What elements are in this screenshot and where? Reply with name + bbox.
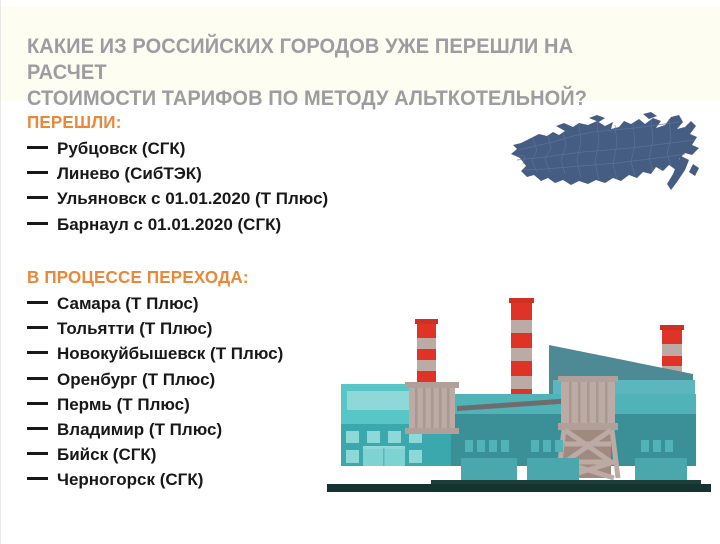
dash-bullet-icon xyxy=(27,452,48,455)
city-label: Оренбург (Т Плюс) xyxy=(57,367,215,392)
list-item: Самара (Т Плюс) xyxy=(27,291,283,316)
list-item: Бийск (СГК) xyxy=(27,442,283,467)
list-item: Линево (СибТЭК) xyxy=(27,161,328,186)
section-heading-transitioned: ПЕРЕШЛИ: xyxy=(27,112,319,133)
page-title: КАКИЕ ИЗ РОССИЙСКИХ ГОРОДОВ УЖЕ ПЕРЕШЛИ … xyxy=(27,33,655,111)
section-transitioned: ПЕРЕШЛИ: Рубцовск (СГК) Линево (СибТЭК) … xyxy=(27,112,328,237)
city-label: Ульяновск с 01.01.2020 (Т Плюс) xyxy=(57,186,328,211)
dash-bullet-icon xyxy=(27,146,48,149)
city-list-in-progress: Самара (Т Плюс) Тольятти (Т Плюс) Новоку… xyxy=(27,291,283,493)
power-plant-icon xyxy=(321,298,720,498)
dash-bullet-icon xyxy=(27,222,48,225)
city-label: Владимир (Т Плюс) xyxy=(57,417,222,442)
section-in-progress: В ПРОЦЕССЕ ПЕРЕХОДА: Самара (Т Плюс) Тол… xyxy=(27,267,283,493)
list-item: Тольятти (Т Плюс) xyxy=(27,316,283,341)
dash-bullet-icon xyxy=(27,196,48,199)
power-plant-illustration xyxy=(321,298,720,498)
city-label: Новокуйбышевск (Т Плюс) xyxy=(57,341,283,366)
infographic-page: КАКИЕ ИЗ РОССИЙСКИХ ГОРОДОВ УЖЕ ПЕРЕШЛИ … xyxy=(0,0,720,544)
list-item: Пермь (Т Плюс) xyxy=(27,392,283,417)
list-item: Черногорск (СГК) xyxy=(27,467,283,492)
dash-bullet-icon xyxy=(27,377,48,380)
list-item: Ульяновск с 01.01.2020 (Т Плюс) xyxy=(27,186,328,211)
list-item: Владимир (Т Плюс) xyxy=(27,417,283,442)
dash-bullet-icon xyxy=(27,301,48,304)
list-item: Оренбург (Т Плюс) xyxy=(27,367,283,392)
dash-bullet-icon xyxy=(27,427,48,430)
russia-map-icon xyxy=(493,112,705,208)
dash-bullet-icon xyxy=(27,477,48,480)
russia-map-illustration xyxy=(493,112,705,208)
city-label: Рубцовск (СГК) xyxy=(57,136,185,161)
dash-bullet-icon xyxy=(27,351,48,354)
dash-bullet-icon xyxy=(27,326,48,329)
city-label: Барнаул с 01.01.2020 (СГК) xyxy=(57,212,281,237)
ground-bar xyxy=(327,484,711,492)
list-item: Барнаул с 01.01.2020 (СГК) xyxy=(27,212,328,237)
city-label: Пермь (Т Плюс) xyxy=(57,392,190,417)
list-item: Рубцовск (СГК) xyxy=(27,136,328,161)
city-list-transitioned: Рубцовск (СГК) Линево (СибТЭК) Ульяновск… xyxy=(27,136,328,237)
city-label: Бийск (СГК) xyxy=(57,442,156,467)
boiler-unit-left xyxy=(405,382,459,434)
dash-bullet-icon xyxy=(27,171,48,174)
city-label: Тольятти (Т Плюс) xyxy=(57,316,212,341)
factory-gates xyxy=(461,458,687,480)
list-item: Новокуйбышевск (Т Плюс) xyxy=(27,341,283,366)
city-label: Линево (СибТЭК) xyxy=(57,161,202,186)
chimney-left xyxy=(415,319,438,384)
city-label: Черногорск (СГК) xyxy=(57,467,203,492)
city-label: Самара (Т Плюс) xyxy=(57,291,199,316)
dash-bullet-icon xyxy=(27,402,48,405)
chimney-center xyxy=(509,298,534,396)
section-heading-in-progress: В ПРОЦЕССЕ ПЕРЕХОДА: xyxy=(27,267,276,288)
